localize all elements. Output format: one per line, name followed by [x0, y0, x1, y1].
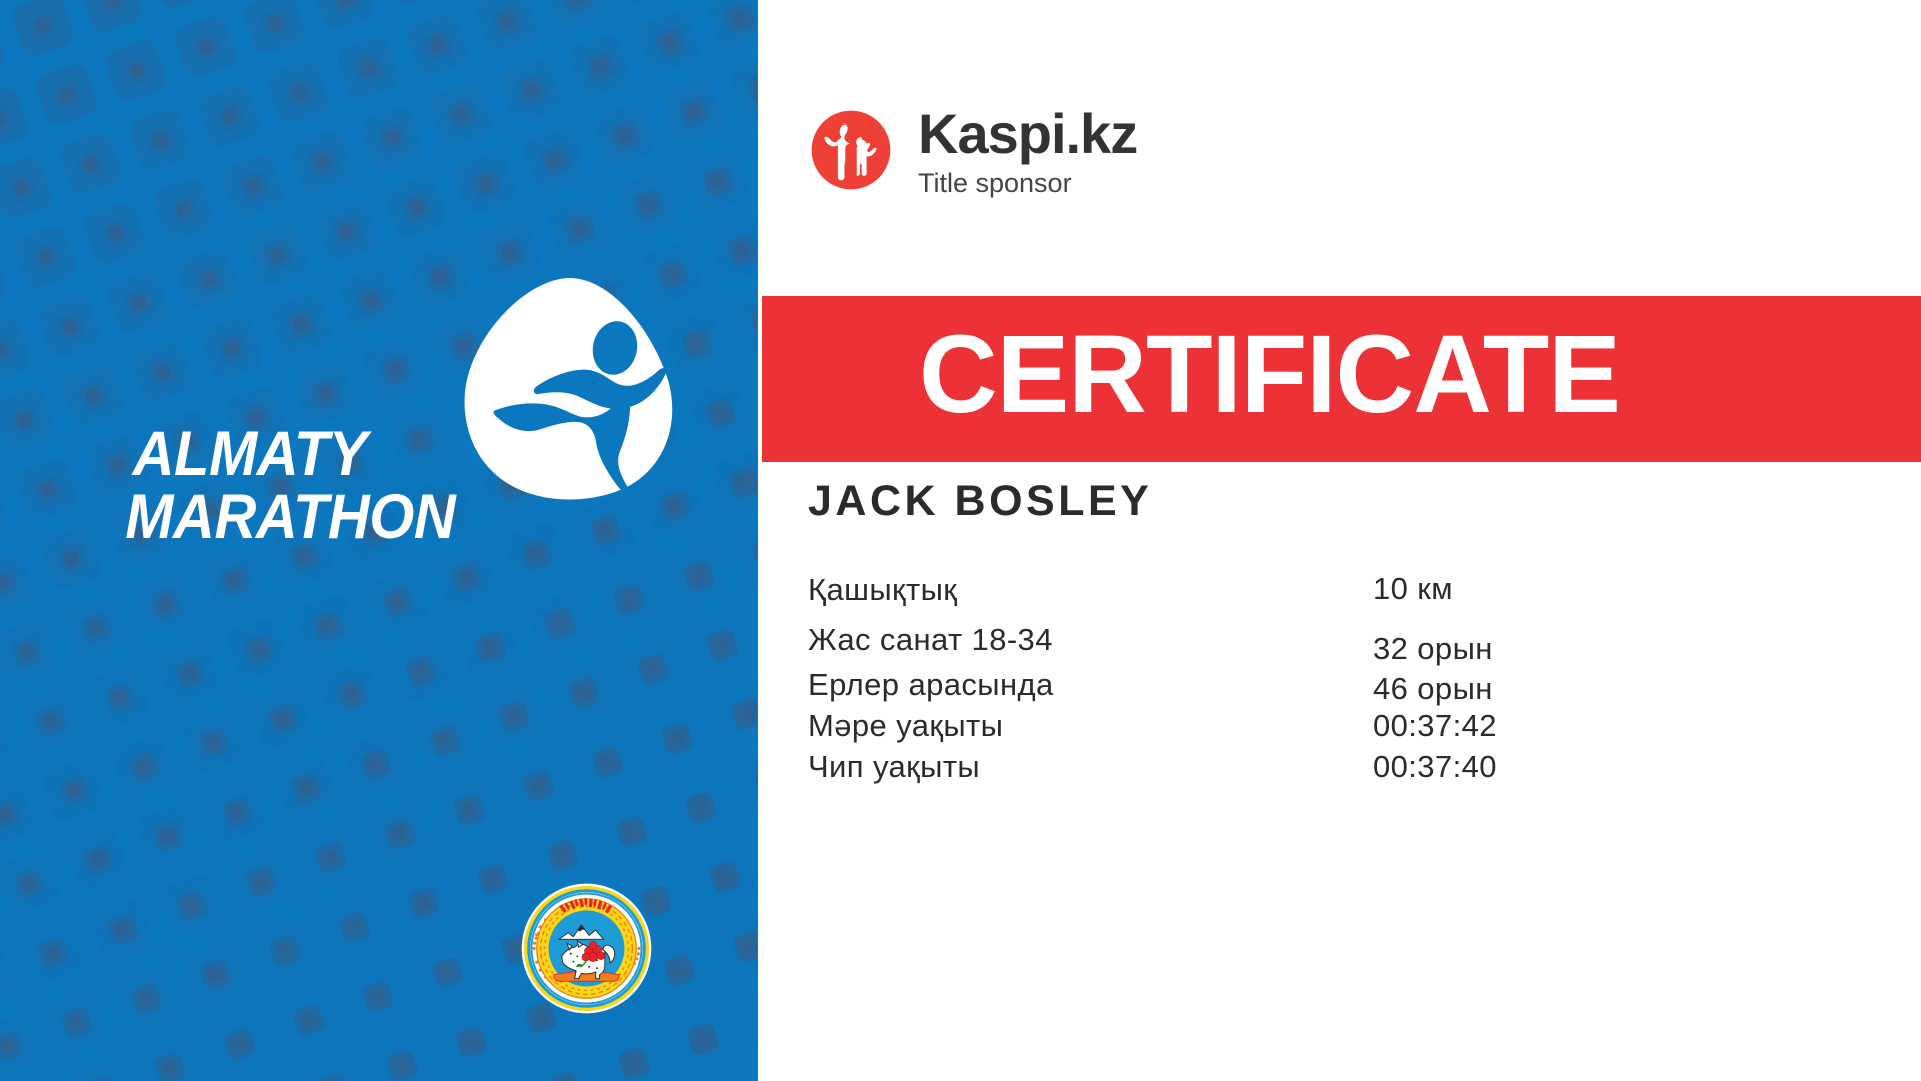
result-label: Чип уақыты — [808, 749, 980, 785]
result-label: Қашықтық — [808, 572, 957, 608]
table-row: Чип уақыты 00:37:40 — [808, 749, 1668, 799]
kaspi-family-circle-icon — [810, 109, 892, 191]
result-value: 10 км — [1373, 571, 1453, 607]
table-row: Ерлер арасында 46 орын — [808, 667, 1668, 708]
results-table: Қашықтық 10 км Жас санат 18-34 32 орын Е… — [808, 572, 1668, 799]
certificate-content-panel: Kaspi.kz Title sponsor CERTIFICATE JACK … — [758, 0, 1921, 1081]
wordmark-line-marathon: MARATHON — [105, 488, 675, 547]
result-label: Жас санат 18-34 — [808, 622, 1053, 658]
almaty-marathon-logo: ALMATY MARATHON — [0, 270, 758, 600]
result-value: 00:37:42 — [1373, 708, 1497, 744]
table-row: Қашықтық 10 км — [808, 572, 1668, 622]
sponsor-name: Kaspi.kz — [918, 105, 1137, 162]
almaty-marathon-wordmark: ALMATY MARATHON — [105, 425, 725, 546]
table-row: Мәре уақыты 00:37:42 — [808, 708, 1668, 749]
wordmark-line-almaty: ALMATY — [105, 425, 675, 484]
sponsor-role-label: Title sponsor — [918, 168, 1137, 199]
table-row: Жас санат 18-34 32 орын — [808, 622, 1668, 667]
result-value: 32 орын — [1373, 631, 1493, 667]
title-sponsor-block: Kaspi.kz Title sponsor — [810, 105, 1137, 199]
athlete-name: JACK BOSLEY — [808, 477, 1152, 526]
left-brand-panel: ALMATY MARATHON — [0, 0, 758, 1081]
certificate-banner: CERTIFICATE — [762, 296, 1921, 462]
result-value: 46 орын — [1373, 671, 1493, 707]
certificate-page: ALMATY MARATHON — [0, 0, 1921, 1081]
certificate-title: CERTIFICATE — [919, 313, 1620, 436]
almaty-city-coat-of-arms — [521, 883, 652, 1014]
sponsor-text-block: Kaspi.kz Title sponsor — [918, 105, 1137, 199]
result-label: Мәре уақыты — [808, 708, 1003, 744]
result-label: Ерлер арасында — [808, 667, 1054, 703]
result-value: 00:37:40 — [1373, 749, 1497, 785]
